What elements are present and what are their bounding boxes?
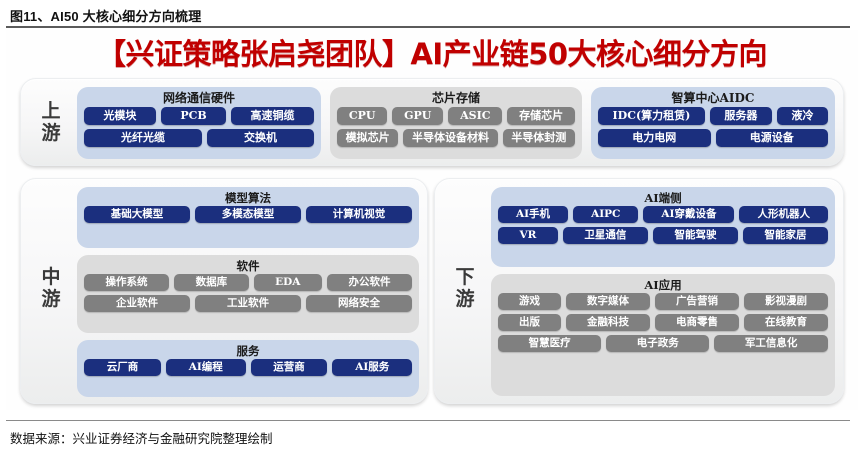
stage-label-midstream-char2: 游: [41, 289, 60, 311]
chip-item[interactable]: AI手机: [498, 206, 568, 223]
data-source-note: 数据来源：兴业证券经济与金融研究院整理绘制: [10, 428, 273, 447]
chip-row: 光纤光缆 交换机: [84, 129, 314, 147]
downstream-groups: AI端侧 AI手机 AIPC AI穿戴设备 人形机器人 VR 卫星通信 智能驾驶: [491, 187, 835, 397]
chip-item[interactable]: 在线教育: [744, 314, 828, 331]
chip-item[interactable]: 网络安全: [306, 295, 412, 312]
group-rows: AI手机 AIPC AI穿戴设备 人形机器人 VR 卫星通信 智能驾驶 智能家居: [498, 206, 828, 244]
group-aidc: 智算中心AIDC IDC(算力租赁) 服务器 液冷 电力电网 电源设备: [591, 87, 835, 159]
chip-row: 出版 金融科技 电商零售 在线教育: [498, 314, 828, 331]
chip-item[interactable]: 液冷: [777, 107, 828, 125]
chip-item[interactable]: 半导体设备材料: [403, 129, 497, 147]
chip-item[interactable]: AI服务: [332, 359, 412, 376]
chip-row: CPU GPU ASIC 存储芯片: [337, 107, 575, 125]
chip-item[interactable]: VR: [498, 227, 558, 244]
chip-row: AI手机 AIPC AI穿戴设备 人形机器人: [498, 206, 828, 223]
group-model-algorithm: 模型算法 基础大模型 多模态模型 计算机视觉: [77, 187, 419, 248]
chip-item[interactable]: 数据库: [174, 274, 249, 291]
chip-item[interactable]: 多模态模型: [195, 206, 301, 223]
chip-item[interactable]: GPU: [392, 107, 443, 125]
chip-item[interactable]: 电子政务: [606, 335, 709, 352]
chip-item[interactable]: 游戏: [498, 293, 561, 310]
chip-item[interactable]: 高速铜缆: [231, 107, 314, 125]
chip-item[interactable]: 基础大模型: [84, 206, 190, 223]
chip-row: 操作系统 数据库 EDA 办公软件: [84, 274, 412, 291]
chip-row: 云厂商 AI编程 运营商 AI服务: [84, 359, 412, 376]
chip-item[interactable]: 工业软件: [195, 295, 301, 312]
chip-item[interactable]: PCB: [161, 107, 226, 125]
chip-item[interactable]: 数字媒体: [566, 293, 650, 310]
group-title: 模型算法: [225, 190, 271, 206]
group-chip-storage: 芯片存储 CPU GPU ASIC 存储芯片 模拟芯片 半导体设备材料 半导体封…: [330, 87, 582, 159]
group-rows: CPU GPU ASIC 存储芯片 模拟芯片 半导体设备材料 半导体封测: [337, 107, 575, 147]
chip-item[interactable]: 智能驾驶: [653, 227, 738, 244]
figure-body: 【兴证策略张启尧团队】AI产业链50大核心细分方向 上 游 网络通信硬件 光模块…: [6, 30, 858, 410]
chip-item[interactable]: 交换机: [207, 129, 314, 147]
stage-label-upstream-char2: 游: [41, 123, 60, 145]
chip-item[interactable]: EDA: [254, 274, 322, 291]
panel-downstream: 下 游 AI端侧 AI手机 AIPC AI穿戴设备 人形机器人 VR: [434, 178, 844, 404]
group-rows: 操作系统 数据库 EDA 办公软件 企业软件 工业软件 网络安全: [84, 274, 412, 312]
group-title: 软件: [237, 258, 260, 274]
chip-item[interactable]: 模拟芯片: [337, 129, 398, 147]
stage-label-upstream-char1: 上: [41, 101, 60, 123]
chip-item[interactable]: 人形机器人: [739, 206, 828, 223]
chip-item[interactable]: 电商零售: [655, 314, 739, 331]
group-title: AI应用: [644, 277, 681, 293]
panel-upstream: 上 游 网络通信硬件 光模块 PCB 高速铜缆 光纤光缆 交换机: [20, 78, 844, 166]
chip-row: VR 卫星通信 智能驾驶 智能家居: [498, 227, 828, 244]
group-title: 芯片存储: [432, 90, 480, 107]
chip-row: 智慧医疗 电子政务 军工信息化: [498, 335, 828, 352]
group-services: 服务 云厂商 AI编程 运营商 AI服务: [77, 340, 419, 397]
group-title: 服务: [237, 343, 260, 359]
group-ai-device: AI端侧 AI手机 AIPC AI穿戴设备 人形机器人 VR 卫星通信 智能驾驶: [491, 187, 835, 267]
chip-row: 电力电网 电源设备: [598, 129, 828, 147]
chip-item[interactable]: 电力电网: [598, 129, 711, 147]
group-rows: 云厂商 AI编程 运营商 AI服务: [84, 359, 412, 376]
chip-row: 企业软件 工业软件 网络安全: [84, 295, 412, 312]
chip-item[interactable]: 军工信息化: [714, 335, 828, 352]
group-title: 网络通信硬件: [163, 90, 235, 107]
chip-item[interactable]: 影视漫剧: [744, 293, 828, 310]
stage-label-upstream: 上 游: [31, 93, 71, 153]
chip-item[interactable]: 企业软件: [84, 295, 190, 312]
group-title: AI端侧: [644, 190, 681, 206]
group-software: 软件 操作系统 数据库 EDA 办公软件 企业软件 工业软件 网络安全: [77, 255, 419, 333]
stage-label-downstream-char2: 游: [455, 289, 474, 311]
footer-divider: [6, 420, 850, 421]
chip-item[interactable]: 金融科技: [566, 314, 650, 331]
group-rows: 游戏 数字媒体 广告营销 影视漫剧 出版 金融科技 电商零售 在线教育: [498, 293, 828, 352]
chip-item[interactable]: 出版: [498, 314, 561, 331]
chip-item[interactable]: 操作系统: [84, 274, 169, 291]
stage-label-midstream-char1: 中: [41, 267, 60, 289]
chip-item[interactable]: 计算机视觉: [306, 206, 412, 223]
group-network-hardware: 网络通信硬件 光模块 PCB 高速铜缆 光纤光缆 交换机: [77, 87, 321, 159]
chip-item[interactable]: 卫星通信: [563, 227, 648, 244]
group-rows: 基础大模型 多模态模型 计算机视觉: [84, 206, 412, 223]
value-chain-board: 上 游 网络通信硬件 光模块 PCB 高速铜缆 光纤光缆 交换机: [6, 78, 858, 408]
chip-item[interactable]: AIPC: [573, 206, 638, 223]
chip-item[interactable]: 广告营销: [655, 293, 739, 310]
upstream-groups: 网络通信硬件 光模块 PCB 高速铜缆 光纤光缆 交换机: [77, 87, 835, 159]
chip-item[interactable]: 半导体封测: [503, 129, 575, 147]
group-rows: IDC(算力租赁) 服务器 液冷 电力电网 电源设备: [598, 107, 828, 147]
chip-item[interactable]: 光纤光缆: [84, 129, 202, 147]
chip-item[interactable]: 云厂商: [84, 359, 161, 376]
chip-item[interactable]: 光模块: [84, 107, 156, 125]
figure-caption: 图11、AI50 大核心细分方向梳理: [10, 6, 201, 25]
chip-item[interactable]: AI编程: [166, 359, 246, 376]
midstream-groups: 模型算法 基础大模型 多模态模型 计算机视觉 软件 操作系统: [77, 187, 419, 397]
chip-item[interactable]: 智能家居: [743, 227, 828, 244]
chip-item[interactable]: 电源设备: [716, 129, 829, 147]
stage-label-midstream: 中 游: [31, 239, 71, 339]
panel-midstream: 中 游 模型算法 基础大模型 多模态模型 计算机视觉 软件: [20, 178, 428, 404]
banner: 【兴证策略张启尧团队】AI产业链50大核心细分方向: [6, 30, 858, 74]
chip-row: 模拟芯片 半导体设备材料 半导体封测: [337, 129, 575, 147]
group-title: 智算中心AIDC: [672, 90, 755, 107]
chip-row: 光模块 PCB 高速铜缆: [84, 107, 314, 125]
chip-item[interactable]: AI穿戴设备: [643, 206, 734, 223]
chip-row: IDC(算力租赁) 服务器 液冷: [598, 107, 828, 125]
chip-item[interactable]: 办公软件: [327, 274, 412, 291]
chip-item[interactable]: 智慧医疗: [498, 335, 601, 352]
stage-label-downstream: 下 游: [445, 239, 485, 339]
group-rows: 光模块 PCB 高速铜缆 光纤光缆 交换机: [84, 107, 314, 147]
caption-divider: [6, 26, 850, 28]
chip-row: 游戏 数字媒体 广告营销 影视漫剧: [498, 293, 828, 310]
banner-title: 【兴证策略张启尧团队】AI产业链50大核心细分方向: [97, 31, 767, 73]
chip-item[interactable]: 存储芯片: [507, 107, 575, 125]
stage-label-downstream-char1: 下: [455, 267, 474, 289]
group-ai-application: AI应用 游戏 数字媒体 广告营销 影视漫剧 出版 金融科技 电商零售 在线: [491, 274, 835, 396]
chip-item[interactable]: CPU: [337, 107, 387, 125]
chip-row: 基础大模型 多模态模型 计算机视觉: [84, 206, 412, 223]
chip-item[interactable]: ASIC: [448, 107, 502, 125]
chip-item[interactable]: 运营商: [251, 359, 328, 376]
chip-item[interactable]: IDC(算力租赁): [598, 107, 705, 125]
chip-item[interactable]: 服务器: [710, 107, 772, 125]
